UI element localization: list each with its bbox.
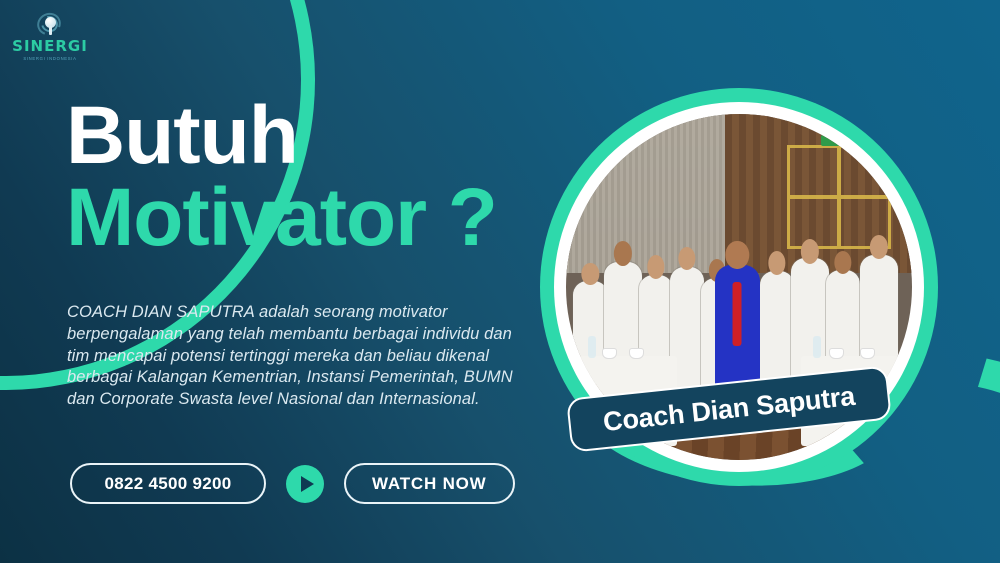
play-button[interactable] xyxy=(286,465,324,503)
cta-row: 0822 4500 9200 WATCH NOW xyxy=(70,463,515,504)
phone-button[interactable]: 0822 4500 9200 xyxy=(70,463,266,504)
description-paragraph: COACH DIAN SAPUTRA adalah seorang motiva… xyxy=(67,302,517,411)
logo-wordmark: SINERGI xyxy=(12,39,88,54)
promo-banner: SINERGI SINERGI INDONESIA Butuh Motivato… xyxy=(0,0,1000,563)
logo-orbit-icon xyxy=(33,12,67,38)
sinergi-logo: SINERGI SINERGI INDONESIA xyxy=(8,8,92,64)
headline-line-2: Motivator ? xyxy=(66,178,497,258)
watch-now-button[interactable]: WATCH NOW xyxy=(344,463,515,504)
headline: Butuh Motivator ? xyxy=(66,96,497,257)
headline-line-1: Butuh xyxy=(66,96,497,176)
play-icon xyxy=(301,476,314,492)
logo-stem xyxy=(49,26,52,35)
logo-tagline: SINERGI INDONESIA xyxy=(23,56,76,61)
photo-exit-sign xyxy=(821,135,843,146)
